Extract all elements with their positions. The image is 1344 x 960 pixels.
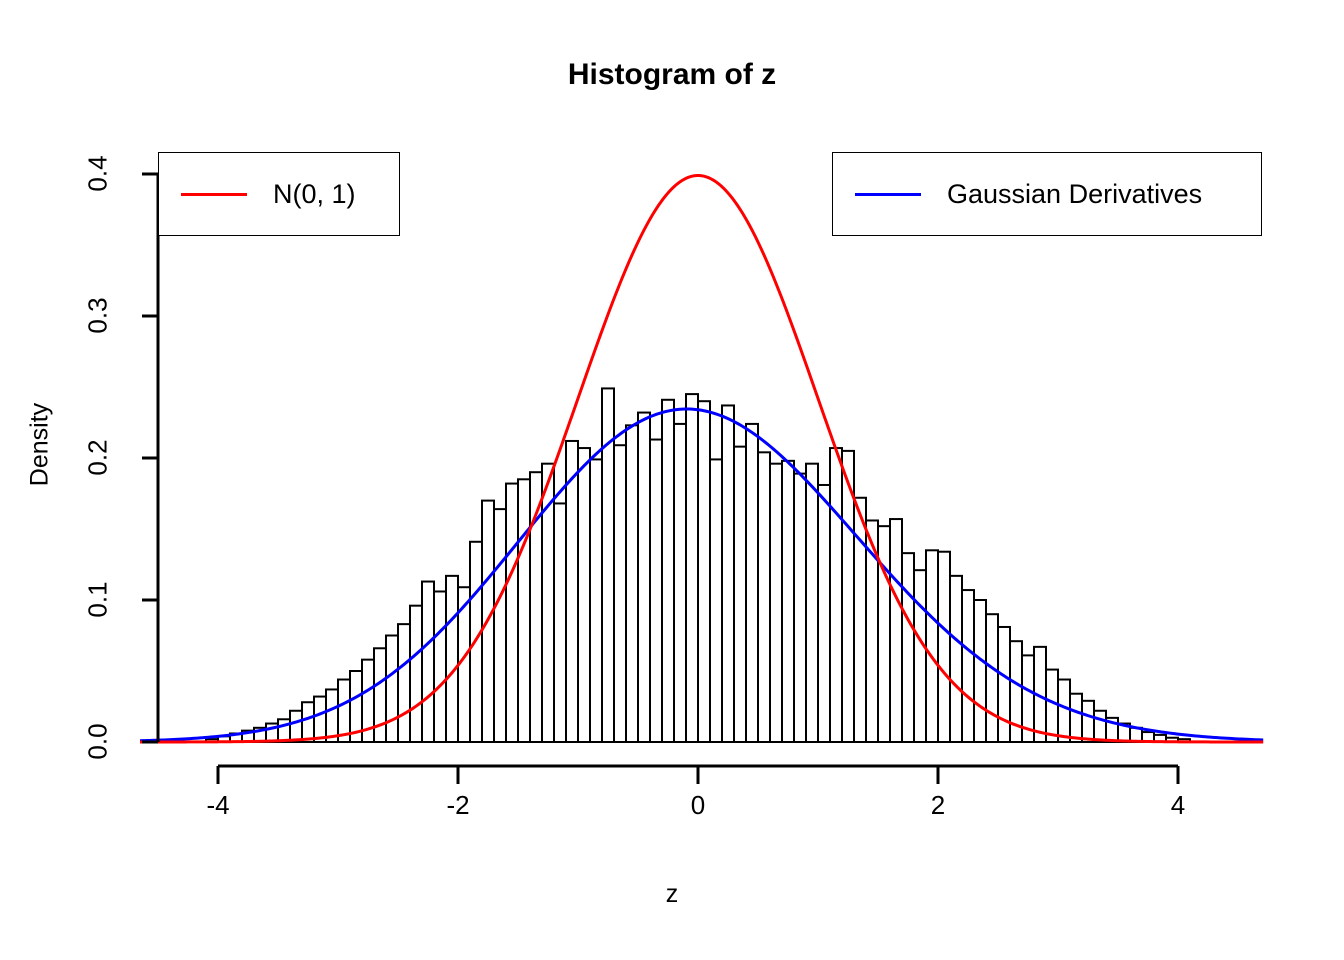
histogram-bar [650,440,662,742]
histogram-bar [926,550,938,742]
y-axis-tick-label: 0.1 [83,560,114,640]
histogram-bar [1058,680,1070,742]
x-axis-label: z [0,880,1344,909]
histogram-bar [410,606,422,742]
legend-label-gaussian-derivatives: Gaussian Derivatives [947,179,1202,210]
histogram-bar [998,627,1010,742]
histogram-bar [326,689,338,742]
histogram-bar [422,582,434,742]
histogram-bar [938,552,950,742]
legend-swatch-gaussian-derivatives [855,193,921,196]
histogram-bar [806,464,818,742]
histogram-bar [674,424,686,742]
histogram-bar [890,519,902,742]
histogram-bar [554,503,566,742]
histogram-bar [1070,694,1082,742]
histogram-bar [1046,670,1058,742]
histogram-bar [1094,711,1106,742]
histogram-bar [974,600,986,742]
y-axis-tick-label: 0.0 [83,702,114,782]
histogram-bar [314,697,326,742]
histogram-bar [950,576,962,742]
histogram-bar [734,447,746,742]
histogram-bar [578,448,590,742]
histogram-bar [398,624,410,742]
legend-swatch-normal [181,193,247,196]
histogram-bar [830,448,842,742]
histogram-bar [758,452,770,742]
legend-label-normal: N(0, 1) [273,179,356,210]
histogram-bar [722,405,734,742]
x-axis-tick-label: 0 [658,790,738,821]
histogram-bar [638,413,650,742]
y-axis-tick-label: 0.3 [83,276,114,356]
plot-root: Histogram of z -4-2024 0.00.10.20.30.4 z… [0,0,1344,960]
histogram-bar [494,509,506,742]
histogram-bar [698,401,710,742]
histogram-bar [746,424,758,742]
y-axis-ticks [142,174,158,742]
histogram-bar [962,590,974,742]
histogram-bar [818,485,830,742]
histogram-bar [782,461,794,742]
histogram-bar [518,479,530,742]
y-axis-label: Density [26,365,55,525]
histogram-bar [290,711,302,742]
histogram-bar [302,702,314,742]
histogram-bar [710,459,722,742]
x-axis-ticks [218,766,1178,784]
histogram-bar [446,576,458,742]
histogram-bar [1082,701,1094,742]
x-axis-tick-label: 4 [1138,790,1218,821]
histogram-bar [626,425,638,742]
histogram-bar [566,441,578,742]
histogram-bar [434,591,446,742]
x-axis-tick-label: -4 [178,790,258,821]
legend-normal[interactable]: N(0, 1) [158,152,400,236]
histogram-bars [206,388,1190,742]
histogram-bar [662,400,674,742]
x-axis-tick-label: -2 [418,790,498,821]
x-axis-tick-label: 2 [898,790,978,821]
histogram-bar [506,484,518,742]
histogram-bar [686,394,698,742]
y-axis-tick-label: 0.4 [83,134,114,214]
histogram-bar [614,445,626,742]
histogram-bar [770,464,782,742]
y-axis-tick-label: 0.2 [83,418,114,498]
histogram-bar [986,614,998,742]
histogram-bar [914,570,926,742]
histogram-bar [902,553,914,742]
histogram-bar [794,474,806,742]
histogram-bar [386,636,398,743]
legend-gaussian-derivatives[interactable]: Gaussian Derivatives [832,152,1262,236]
histogram-bar [590,459,602,742]
